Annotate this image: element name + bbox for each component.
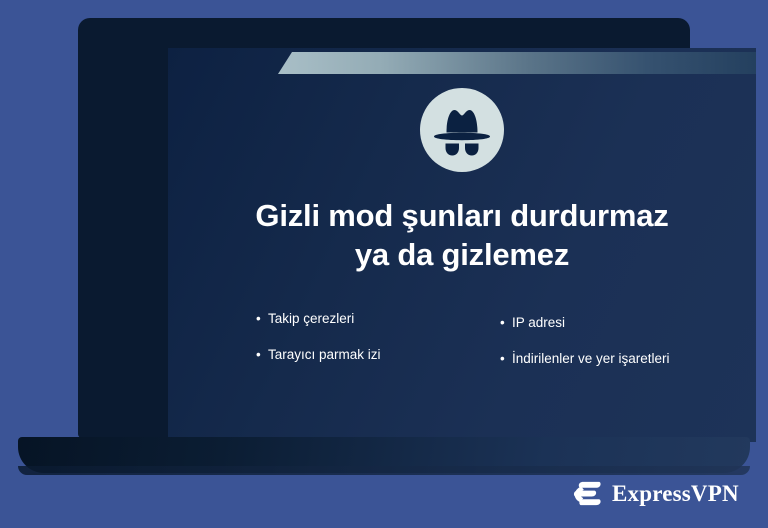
icon-circle-background [420,88,504,172]
logo-text: ExpressVPN [612,481,739,507]
bullet-dot-icon: • [500,314,509,332]
list-item-label: İndirilenler ve yer işaretleri [512,350,696,368]
accent-bar [278,52,756,74]
bullet-columns: • Takip çerezleri • Tarayıcı parmak izi … [256,310,696,386]
bullet-column-right: • IP adresi • İndirilenler ve yer işaret… [500,310,696,386]
list-item: • Takip çerezleri [256,310,452,328]
expressvpn-logo-mark [572,478,603,509]
list-item-label: Tarayıcı parmak izi [268,346,452,364]
bullet-column-left: • Takip çerezleri • Tarayıcı parmak izi [256,310,452,386]
heading-line-1: Gizli mod şunları durdurmaz [192,196,732,235]
slide-heading: Gizli mod şunları durdurmaz ya da gizlem… [192,196,732,275]
laptop-screen: Gizli mod şunları durdurmaz ya da gizlem… [168,48,756,442]
list-item-label: IP adresi [512,314,696,332]
heading-line-2: ya da gizlemez [192,235,732,274]
laptop-base-shadow [18,466,750,475]
list-item: • IP adresi [500,314,696,332]
laptop-frame: Gizli mod şunları durdurmaz ya da gizlem… [78,18,690,438]
expressvpn-logo: ExpressVPN [572,478,739,509]
list-item-label: Takip çerezleri [268,310,452,328]
bullet-dot-icon: • [256,310,265,328]
bullet-dot-icon: • [256,346,265,364]
incognito-icon-container [420,88,504,172]
bullet-dot-icon: • [500,350,509,368]
incognito-spy-icon [420,88,504,172]
slide-canvas: Gizli mod şunları durdurmaz ya da gizlem… [0,0,768,528]
list-item: • Tarayıcı parmak izi [256,346,452,364]
list-item: • İndirilenler ve yer işaretleri [500,350,696,368]
